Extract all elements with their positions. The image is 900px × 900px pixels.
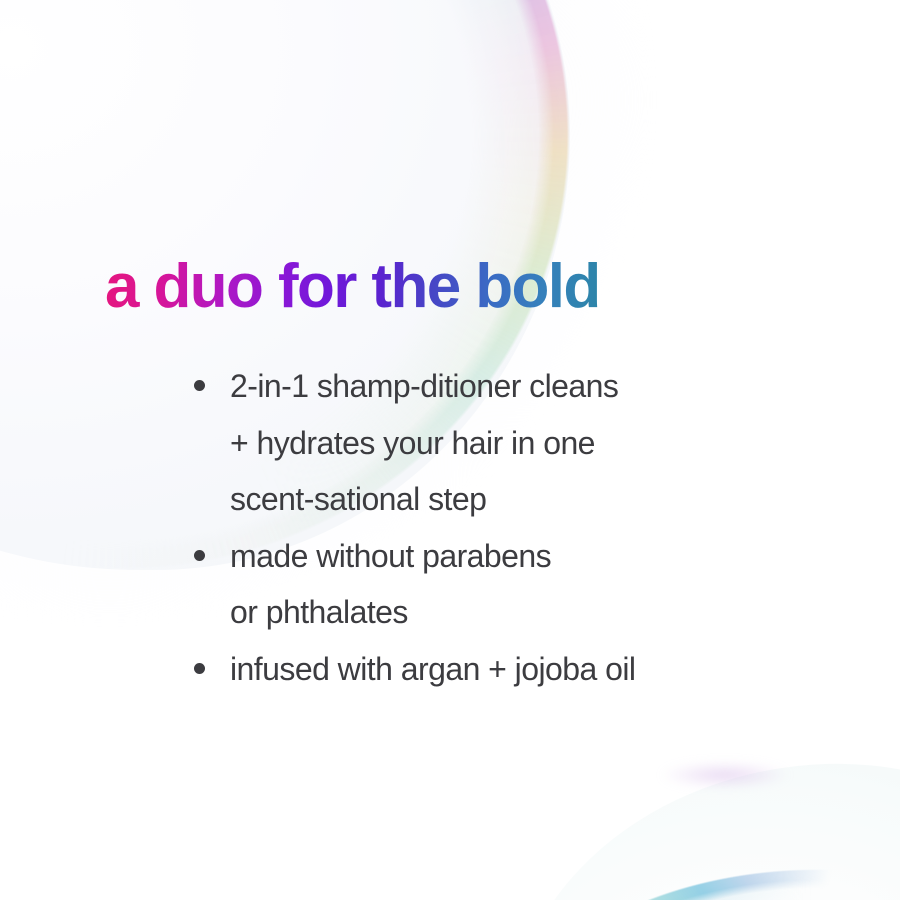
bullet-line: + hydrates your hair in one <box>230 415 635 472</box>
feature-bullet-list: 2-in-1 shamp-ditioner cleans + hydrates … <box>188 358 635 697</box>
content-layer: a duo for the bold 2-in-1 shamp-ditioner… <box>0 0 900 900</box>
promo-graphic-canvas: a duo for the bold 2-in-1 shamp-ditioner… <box>0 0 900 900</box>
list-item: infused with argan + jojoba oil <box>188 641 635 698</box>
bullet-line: or phthalates <box>230 584 635 641</box>
page-title: a duo for the bold <box>105 256 600 318</box>
bullet-line: infused with argan + jojoba oil <box>230 641 635 698</box>
list-item: made without parabens or phthalates <box>188 528 635 641</box>
bullet-line: scent-sational step <box>230 471 635 528</box>
bullet-line: made without parabens <box>230 528 635 585</box>
bullet-line: 2-in-1 shamp-ditioner cleans <box>230 358 635 415</box>
list-item: 2-in-1 shamp-ditioner cleans + hydrates … <box>188 358 635 528</box>
